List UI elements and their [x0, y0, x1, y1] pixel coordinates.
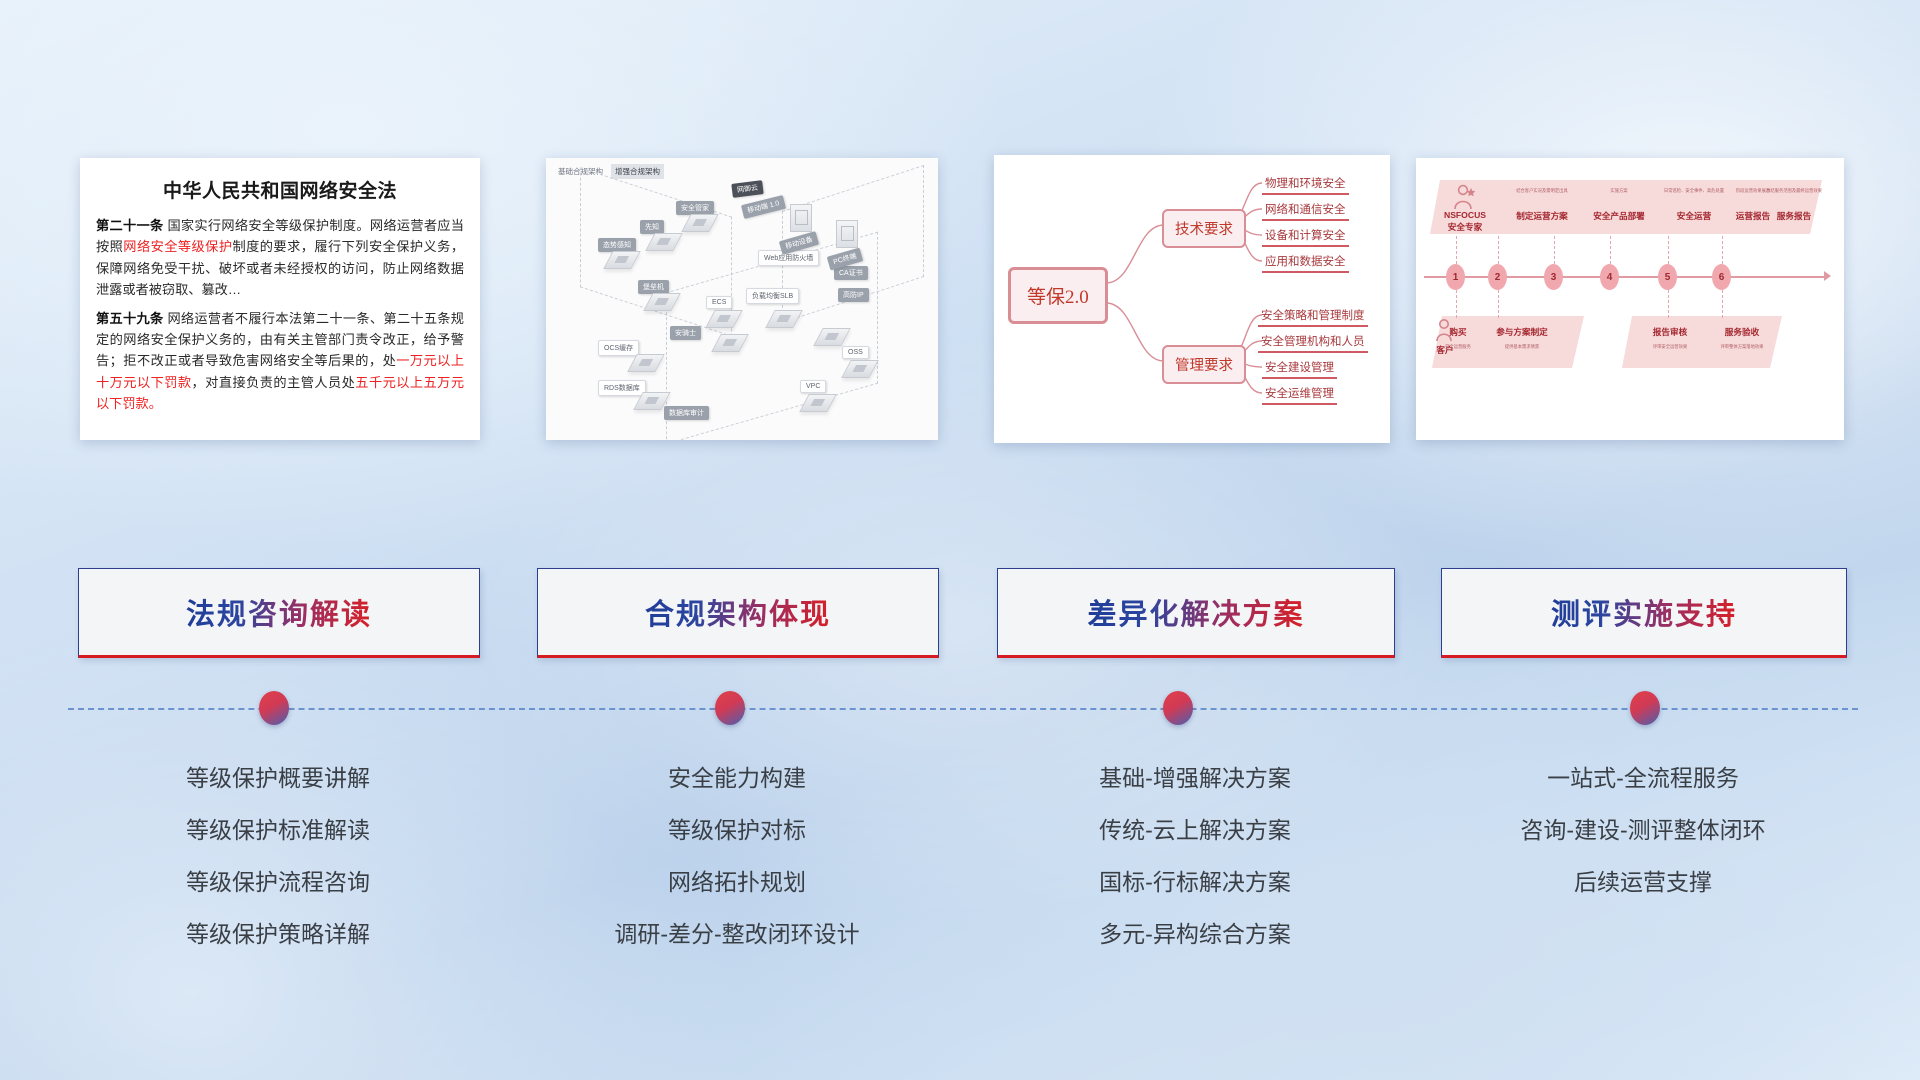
timeline-connector: [1610, 236, 1612, 264]
mindmap-leaf: 安全管理机构和人员: [1258, 333, 1368, 353]
timeline-node-1[interactable]: 1: [1446, 264, 1465, 290]
node-label-vpc: VPC: [800, 380, 826, 393]
law-article-label-21: 第二十一条: [96, 218, 163, 233]
mindmap-leaf: 设备和计算安全: [1262, 227, 1349, 247]
list-item: 国标-行标解决方案: [997, 856, 1393, 908]
timeline-connector: [1498, 236, 1500, 264]
list-item: 多元-异构综合方案: [997, 908, 1393, 960]
list-item: 传统-云上解决方案: [997, 804, 1393, 856]
list-item: 基础-增强解决方案: [997, 752, 1393, 804]
timeline-node-3[interactable]: 3: [1544, 264, 1563, 290]
timeline-knot-1[interactable]: [259, 691, 289, 725]
node-label-ca-cert: CA证书: [834, 266, 868, 280]
node-label-ocs-cache: OCS缓存: [598, 340, 639, 356]
timeline-connector: [1668, 290, 1670, 318]
cloud-architecture-diagram: 基础合规架构 增强合规架构 网御云 安全管家 先知 态势感知 堡垒机 ECS 安…: [546, 158, 938, 440]
mindmap-leaf: 安全策略和管理制度: [1258, 307, 1368, 327]
icon-cube: [627, 354, 665, 372]
node-label-cloud-guard: 网御云: [731, 180, 763, 198]
node-label-db-audit: 数据库审计: [664, 406, 709, 420]
icon-server: [790, 204, 812, 232]
bullet-list-2: 安全能力构建 等级保护对标 网络拓扑规划 调研-差分-整改闭环设计: [537, 752, 937, 960]
mindmap-branch-management[interactable]: 管理要求: [1162, 345, 1246, 384]
mindmap-leaf: 网络和通信安全: [1262, 201, 1349, 221]
step-note: 安全运营服务: [1434, 344, 1482, 350]
node-label-slb: 负载均衡SLB: [746, 288, 799, 304]
node-label-situation-awareness: 态势感知: [598, 238, 636, 252]
brand-subtitle: 安全专家: [1436, 221, 1494, 233]
node-label-anqishi: 安骑士: [670, 326, 701, 340]
law-document: 中华人民共和国网络安全法 第二十一条 国家实行网络安全等级保护制度。网络运营者应…: [80, 158, 480, 440]
step-label: 服务验收: [1702, 326, 1782, 338]
bullet-list-1: 等级保护概要讲解 等级保护标准解读 等级保护流程咨询 等级保护策略详解: [78, 752, 478, 960]
timeline-knot-4[interactable]: [1630, 691, 1660, 725]
brand-name: NSFOCUS: [1436, 210, 1494, 220]
step-label: 安全产品部署: [1584, 210, 1654, 222]
mindmap-branch-technical[interactable]: 技术要求: [1162, 209, 1246, 248]
step-label: 报告审核: [1630, 326, 1710, 338]
timeline-knot-3[interactable]: [1163, 691, 1193, 725]
mindmap-leaf: 物理和环境安全: [1262, 175, 1349, 195]
screenshot-card-law[interactable]: 中华人民共和国网络安全法 第二十一条 国家实行网络安全等级保护制度。网络运营者应…: [80, 158, 480, 440]
heading-box-3[interactable]: 差异化解决方案: [997, 568, 1395, 658]
timeline-node-6[interactable]: 6: [1712, 264, 1731, 290]
nsfocus-service-timeline: NSFOCUS 安全专家 客户 结合客户实况及需明定出具 制定运营方案 实施方案…: [1416, 158, 1844, 440]
node-label-oss: OSS: [842, 346, 869, 359]
list-item: 后续运营支撑: [1441, 856, 1845, 908]
timeline-arrow-icon: [1824, 271, 1831, 281]
timeline-node-5[interactable]: 5: [1658, 264, 1677, 290]
list-item: 等级保护流程咨询: [78, 856, 478, 908]
node-label-anti-ddos: 高防IP: [838, 288, 869, 302]
node-label-mobile-10: 移动端 1.0: [741, 195, 786, 219]
timeline-band-bottom-right: [1622, 316, 1782, 368]
timeline-connector: [1722, 236, 1724, 264]
node-label-xianzhi: 先知: [640, 220, 664, 234]
screenshot-card-mindmap[interactable]: 等保2.0 技术要求 管理要求 物理和环境安全 网络和通信安全 设备和计算安全 …: [994, 155, 1390, 443]
node-label-ecs: ECS: [706, 296, 732, 309]
mindmap-leaf: 安全建设管理: [1262, 359, 1337, 379]
bullet-list-4: 一站式-全流程服务 咨询-建设-测评整体闭环 后续运营支撑: [1441, 752, 1845, 908]
screenshot-card-architecture[interactable]: 基础合规架构 增强合规架构 网御云 安全管家 先知 态势感知 堡垒机 ECS 安…: [546, 158, 938, 440]
node-label-bastion: 堡垒机: [638, 280, 669, 294]
list-item: 等级保护标准解读: [78, 804, 478, 856]
timeline-connector: [1722, 290, 1724, 318]
step-note: 提供基本需求情景: [1480, 344, 1564, 350]
step-note: 评审安全运营效果: [1630, 344, 1710, 350]
node-label-security-butler: 安全管家: [676, 201, 714, 215]
timeline-connector: [1668, 236, 1670, 264]
mindmap-diagram: 等保2.0 技术要求 管理要求 物理和环境安全 网络和通信安全 设备和计算安全 …: [994, 155, 1390, 443]
step-label: 购买: [1438, 326, 1478, 338]
law-run-highlight: 网络安全等级保护: [123, 239, 232, 254]
list-item: 咨询-建设-测评整体闭环: [1441, 804, 1845, 856]
list-item: 网络拓扑规划: [537, 856, 937, 908]
timeline-dashed-line: [68, 708, 1858, 710]
security-expert-icon: [1452, 184, 1476, 210]
timeline-connector: [1498, 290, 1500, 318]
timeline-knot-2[interactable]: [715, 691, 745, 725]
tab-enhanced-framework[interactable]: 增强合规架构: [611, 164, 664, 179]
bullet-list-3: 基础-增强解决方案 传统-云上解决方案 国标-行标解决方案 多元-异构综合方案: [997, 752, 1393, 960]
mindmap-leaf: 安全运维管理: [1262, 385, 1337, 405]
list-item: 安全能力构建: [537, 752, 937, 804]
timeline-node-4[interactable]: 4: [1600, 264, 1619, 290]
list-item: 等级保护对标: [537, 804, 937, 856]
timeline-axis: [1424, 276, 1828, 278]
heading-box-4[interactable]: 测评实施支持: [1441, 568, 1847, 658]
heading-box-2[interactable]: 合规架构体现: [537, 568, 939, 658]
list-item: 一站式-全流程服务: [1441, 752, 1845, 804]
timeline-connector: [1456, 236, 1458, 264]
step-note: 结合客户实况及需明定出具: [1500, 188, 1584, 194]
step-note: 实施方案: [1584, 188, 1654, 194]
timeline-connector: [1554, 236, 1556, 264]
list-item: 等级保护策略详解: [78, 908, 478, 960]
law-article-label-59: 第五十九条: [96, 311, 163, 326]
heading-box-1[interactable]: 法规咨询解读: [78, 568, 480, 658]
step-label: 制定运营方案: [1500, 210, 1584, 222]
step-note: 评审整体方案落地效果: [1702, 344, 1782, 350]
law-title: 中华人民共和国网络安全法: [96, 176, 464, 203]
timeline-connector: [1456, 290, 1458, 318]
law-run: ，对直接负责的主管人员处: [192, 375, 356, 390]
law-paragraph-59: 第五十九条 网络运营者不履行本法第二十一条、第二十五条规定的网络安全保护义务的，…: [96, 308, 464, 415]
timeline-node-2[interactable]: 2: [1488, 264, 1507, 290]
heading-label-3: 差异化解决方案: [1087, 591, 1304, 633]
icon-server: [836, 220, 858, 248]
heading-label-4: 测评实施支持: [1551, 591, 1737, 633]
law-paragraph-21: 第二十一条 国家实行网络安全等级保护制度。网络运营者应当按照网络安全等级保护制度…: [96, 215, 464, 301]
node-label-rds: RDS数据库: [598, 380, 646, 396]
mindmap-leaf: 应用和数据安全: [1262, 253, 1349, 273]
list-item: 等级保护概要讲解: [78, 752, 478, 804]
list-item: 调研-差分-整改闭环设计: [537, 908, 937, 960]
step-label: 服务报告: [1752, 210, 1836, 222]
screenshot-card-nsfocus-timeline[interactable]: NSFOCUS 安全专家 客户 结合客户实况及需明定出具 制定运营方案 实施方案…: [1416, 158, 1844, 440]
heading-label-1: 法规咨询解读: [186, 591, 372, 633]
mindmap-root-node[interactable]: 等保2.0: [1008, 267, 1108, 324]
step-note: 总结服务范围及最终运营效果: [1752, 188, 1836, 194]
step-label: 参与方案制定: [1480, 326, 1564, 338]
heading-label-2: 合规架构体现: [645, 591, 831, 633]
